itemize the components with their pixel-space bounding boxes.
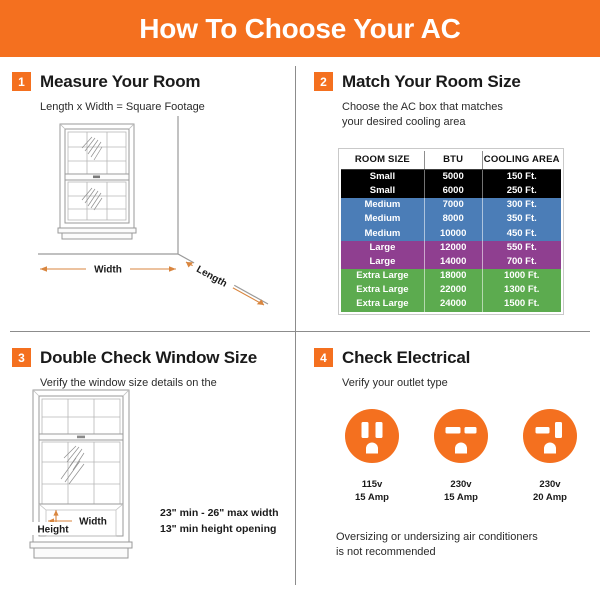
outlet-230v-20amp-icon xyxy=(522,408,578,469)
panel-match-your-room-size: 2 Match Your Room Size Choose the AC box… xyxy=(314,72,589,322)
table-row: Extra Large220001300 Ft. xyxy=(341,283,561,297)
cell-cooling-area: 450 Ft. xyxy=(482,227,561,241)
column-header-btu: BTU xyxy=(424,151,482,170)
outlet-amperage: 20 Amp xyxy=(533,491,567,504)
window-size-requirements: 23" min - 26" max width 13" min height o… xyxy=(160,506,279,538)
cell-cooling-area: 250 Ft. xyxy=(482,184,561,198)
panel1-heading: 1 Measure Your Room xyxy=(12,72,287,91)
step-badge-4: 4 xyxy=(314,348,333,367)
cell-cooling-area: 300 Ft. xyxy=(482,198,561,212)
cell-cooling-area: 1000 Ft. xyxy=(482,269,561,283)
table-row: Large12000550 Ft. xyxy=(341,241,561,255)
outlet-230v-15amp-icon xyxy=(433,408,489,469)
cell-room-size: Small xyxy=(341,170,424,185)
cell-cooling-area: 1500 Ft. xyxy=(482,297,561,311)
table-body: Small5000150 Ft.Small6000250 Ft.Medium70… xyxy=(341,170,561,312)
panel2-heading: 2 Match Your Room Size xyxy=(314,72,589,91)
panel-measure-your-room: 1 Measure Your Room Length x Width = Squ… xyxy=(12,72,287,322)
cell-btu: 24000 xyxy=(424,297,482,311)
table-row: Medium8000350 Ft. xyxy=(341,212,561,226)
cell-room-size: Large xyxy=(341,255,424,269)
height-label-panel3: Height xyxy=(37,525,69,536)
outlet-caption: 230v15 Amp xyxy=(444,478,478,505)
outlet-voltage: 230v xyxy=(444,478,478,491)
panel2-title: Match Your Room Size xyxy=(342,73,521,90)
cell-room-size: Medium xyxy=(341,212,424,226)
outlet-115v-15amp-icon xyxy=(344,408,400,469)
room-corner-diagram: Width Length xyxy=(16,116,288,311)
panel1-title: Measure Your Room xyxy=(40,73,200,90)
column-header-cooling-area: COOLING AREA xyxy=(482,151,561,170)
panel3-heading: 3 Double Check Window Size xyxy=(12,348,287,367)
table-row: Medium10000450 Ft. xyxy=(341,227,561,241)
infographic-page: How To Choose Your AC 1 Measure Your Roo… xyxy=(0,0,600,600)
table-row: Large14000700 Ft. xyxy=(341,255,561,269)
panel-double-check-window-size: 3 Double Check Window Size Verify the wi… xyxy=(12,348,287,588)
length-dimension: Length xyxy=(186,259,264,305)
cell-room-size: Medium xyxy=(341,198,424,212)
ac-sizing-table: ROOM SIZE BTU COOLING AREA Small5000150 … xyxy=(338,148,564,315)
table-header-row: ROOM SIZE BTU COOLING AREA xyxy=(341,151,561,170)
cell-cooling-area: 550 Ft. xyxy=(482,241,561,255)
table-row: Medium7000300 Ft. xyxy=(341,198,561,212)
step-badge-1: 1 xyxy=(12,72,31,91)
outlet-option[interactable]: 230v15 Amp xyxy=(425,408,497,505)
cell-btu: 10000 xyxy=(424,227,482,241)
cell-cooling-area: 1300 Ft. xyxy=(482,283,561,297)
outlet-option[interactable]: 230v20 Amp xyxy=(514,408,586,505)
panel4-title: Check Electrical xyxy=(342,349,470,366)
outlet-caption: 115v15 Amp xyxy=(355,478,389,505)
outlet-voltage: 230v xyxy=(533,478,567,491)
width-label-panel1: Width xyxy=(94,265,122,276)
cell-room-size: Extra Large xyxy=(341,297,424,311)
panel4-heading: 4 Check Electrical xyxy=(314,348,589,367)
cell-btu: 14000 xyxy=(424,255,482,269)
cell-room-size: Small xyxy=(341,184,424,198)
step-badge-2: 2 xyxy=(314,72,333,91)
vertical-divider xyxy=(295,66,296,585)
panel1-subtitle: Length x Width = Square Footage xyxy=(40,100,280,115)
cell-room-size: Extra Large xyxy=(341,269,424,283)
cell-cooling-area: 700 Ft. xyxy=(482,255,561,269)
cell-btu: 18000 xyxy=(424,269,482,283)
outlet-type-list: 115v15 Amp230v15 Amp230v20 Amp xyxy=(336,408,586,505)
table-row: Extra Large180001000 Ft. xyxy=(341,269,561,283)
cell-btu: 22000 xyxy=(424,283,482,297)
cell-cooling-area: 350 Ft. xyxy=(482,212,561,226)
outlet-caption: 230v20 Amp xyxy=(533,478,567,505)
cell-room-size: Extra Large xyxy=(341,283,424,297)
cell-btu: 6000 xyxy=(424,184,482,198)
oversizing-note: Oversizing or undersizing air conditione… xyxy=(336,530,586,561)
outlet-voltage: 115v xyxy=(355,478,389,491)
outlet-amperage: 15 Amp xyxy=(444,491,478,504)
cell-room-size: Large xyxy=(341,241,424,255)
panel3-title: Double Check Window Size xyxy=(40,349,257,366)
page-title: How To Choose Your AC xyxy=(139,15,460,43)
step-badge-3: 3 xyxy=(12,348,31,367)
table-row: Small5000150 Ft. xyxy=(341,170,561,185)
window-lock-icon xyxy=(77,436,85,439)
panel4-subtitle: Verify your outlet type xyxy=(342,376,582,391)
window-illustration xyxy=(58,124,136,239)
width-label-panel3: Width xyxy=(79,517,107,528)
horizontal-divider xyxy=(10,331,590,332)
width-dimension: Width xyxy=(40,262,176,276)
window-height-requirement: 13" min height opening xyxy=(160,522,279,538)
cell-btu: 12000 xyxy=(424,241,482,255)
outlet-option[interactable]: 115v15 Amp xyxy=(336,408,408,505)
table-row: Small6000250 Ft. xyxy=(341,184,561,198)
window-width-requirement: 23" min - 26" max width xyxy=(160,506,279,522)
table-row: Extra Large240001500 Ft. xyxy=(341,297,561,311)
cell-btu: 5000 xyxy=(424,170,482,185)
window-lock-icon xyxy=(93,176,100,179)
panel-check-electrical: 4 Check Electrical Verify your outlet ty… xyxy=(314,348,589,588)
panel2-subtitle: Choose the AC box that matches your desi… xyxy=(342,100,582,130)
cell-cooling-area: 150 Ft. xyxy=(482,170,561,185)
outlet-amperage: 15 Amp xyxy=(355,491,389,504)
window-size-diagram: Width Height xyxy=(28,384,158,579)
page-header: How To Choose Your AC xyxy=(0,0,600,57)
cell-btu: 8000 xyxy=(424,212,482,226)
column-header-room-size: ROOM SIZE xyxy=(341,151,424,170)
cell-btu: 7000 xyxy=(424,198,482,212)
cell-room-size: Medium xyxy=(341,227,424,241)
